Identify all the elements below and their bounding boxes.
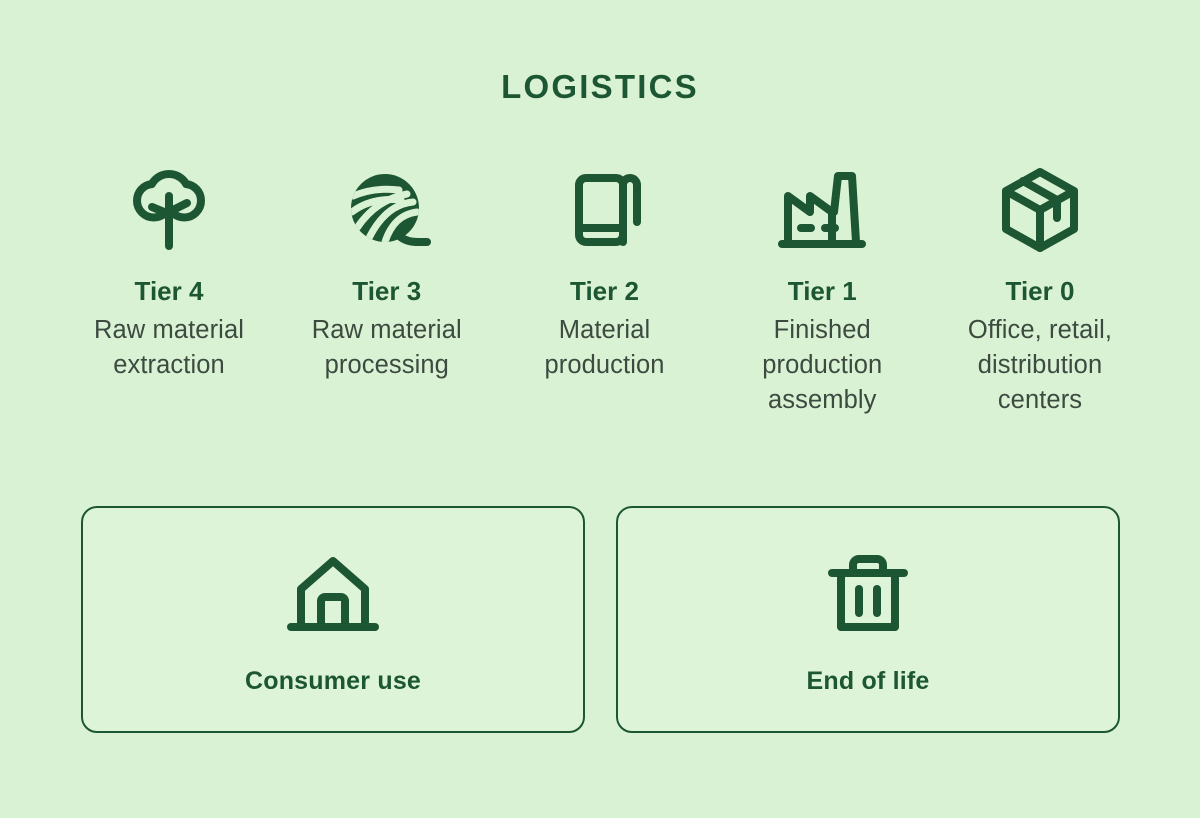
- tier-name: Tier 1: [788, 276, 857, 307]
- house-icon: [281, 547, 385, 643]
- factory-icon: [772, 160, 872, 260]
- trash-bin-icon: [822, 547, 914, 643]
- tier-description: Finished production assembly: [715, 313, 929, 419]
- tier-name: Tier 3: [352, 276, 421, 307]
- tier-description: Raw material processing: [280, 313, 494, 383]
- package-box-icon: [992, 160, 1088, 260]
- card-label: End of life: [806, 667, 929, 696]
- tier-description: Raw material extraction: [62, 313, 276, 383]
- tier-row: Tier 4 Raw material extraction: [62, 160, 1147, 418]
- tier-name: Tier 4: [135, 276, 204, 307]
- card-row: Consumer use End of life: [81, 506, 1120, 733]
- tree-icon: [121, 160, 217, 260]
- tier-name: Tier 0: [1006, 276, 1075, 307]
- tier-description: Office, retail, distribution centers: [933, 313, 1147, 419]
- tier-item-4: Tier 4 Raw material extraction: [62, 160, 276, 383]
- card-label: Consumer use: [245, 667, 421, 696]
- card-consumer-use[interactable]: Consumer use: [81, 506, 585, 733]
- diagram-canvas: LOGISTICS Tier 4 Raw material extraction: [0, 0, 1200, 818]
- page-title: LOGISTICS: [0, 70, 1200, 103]
- yarn-ball-icon: [339, 160, 435, 260]
- towel-icon: [557, 160, 653, 260]
- tier-item-3: Tier 3 Raw material processing: [280, 160, 494, 383]
- tier-description: Material production: [498, 313, 712, 383]
- tier-item-2: Tier 2 Material production: [498, 160, 712, 383]
- tier-item-0: Tier 0 Office, retail, distribution cent…: [933, 160, 1147, 418]
- tier-item-1: Tier 1 Finished production assembly: [715, 160, 929, 418]
- tier-name: Tier 2: [570, 276, 639, 307]
- card-end-of-life[interactable]: End of life: [616, 506, 1120, 733]
